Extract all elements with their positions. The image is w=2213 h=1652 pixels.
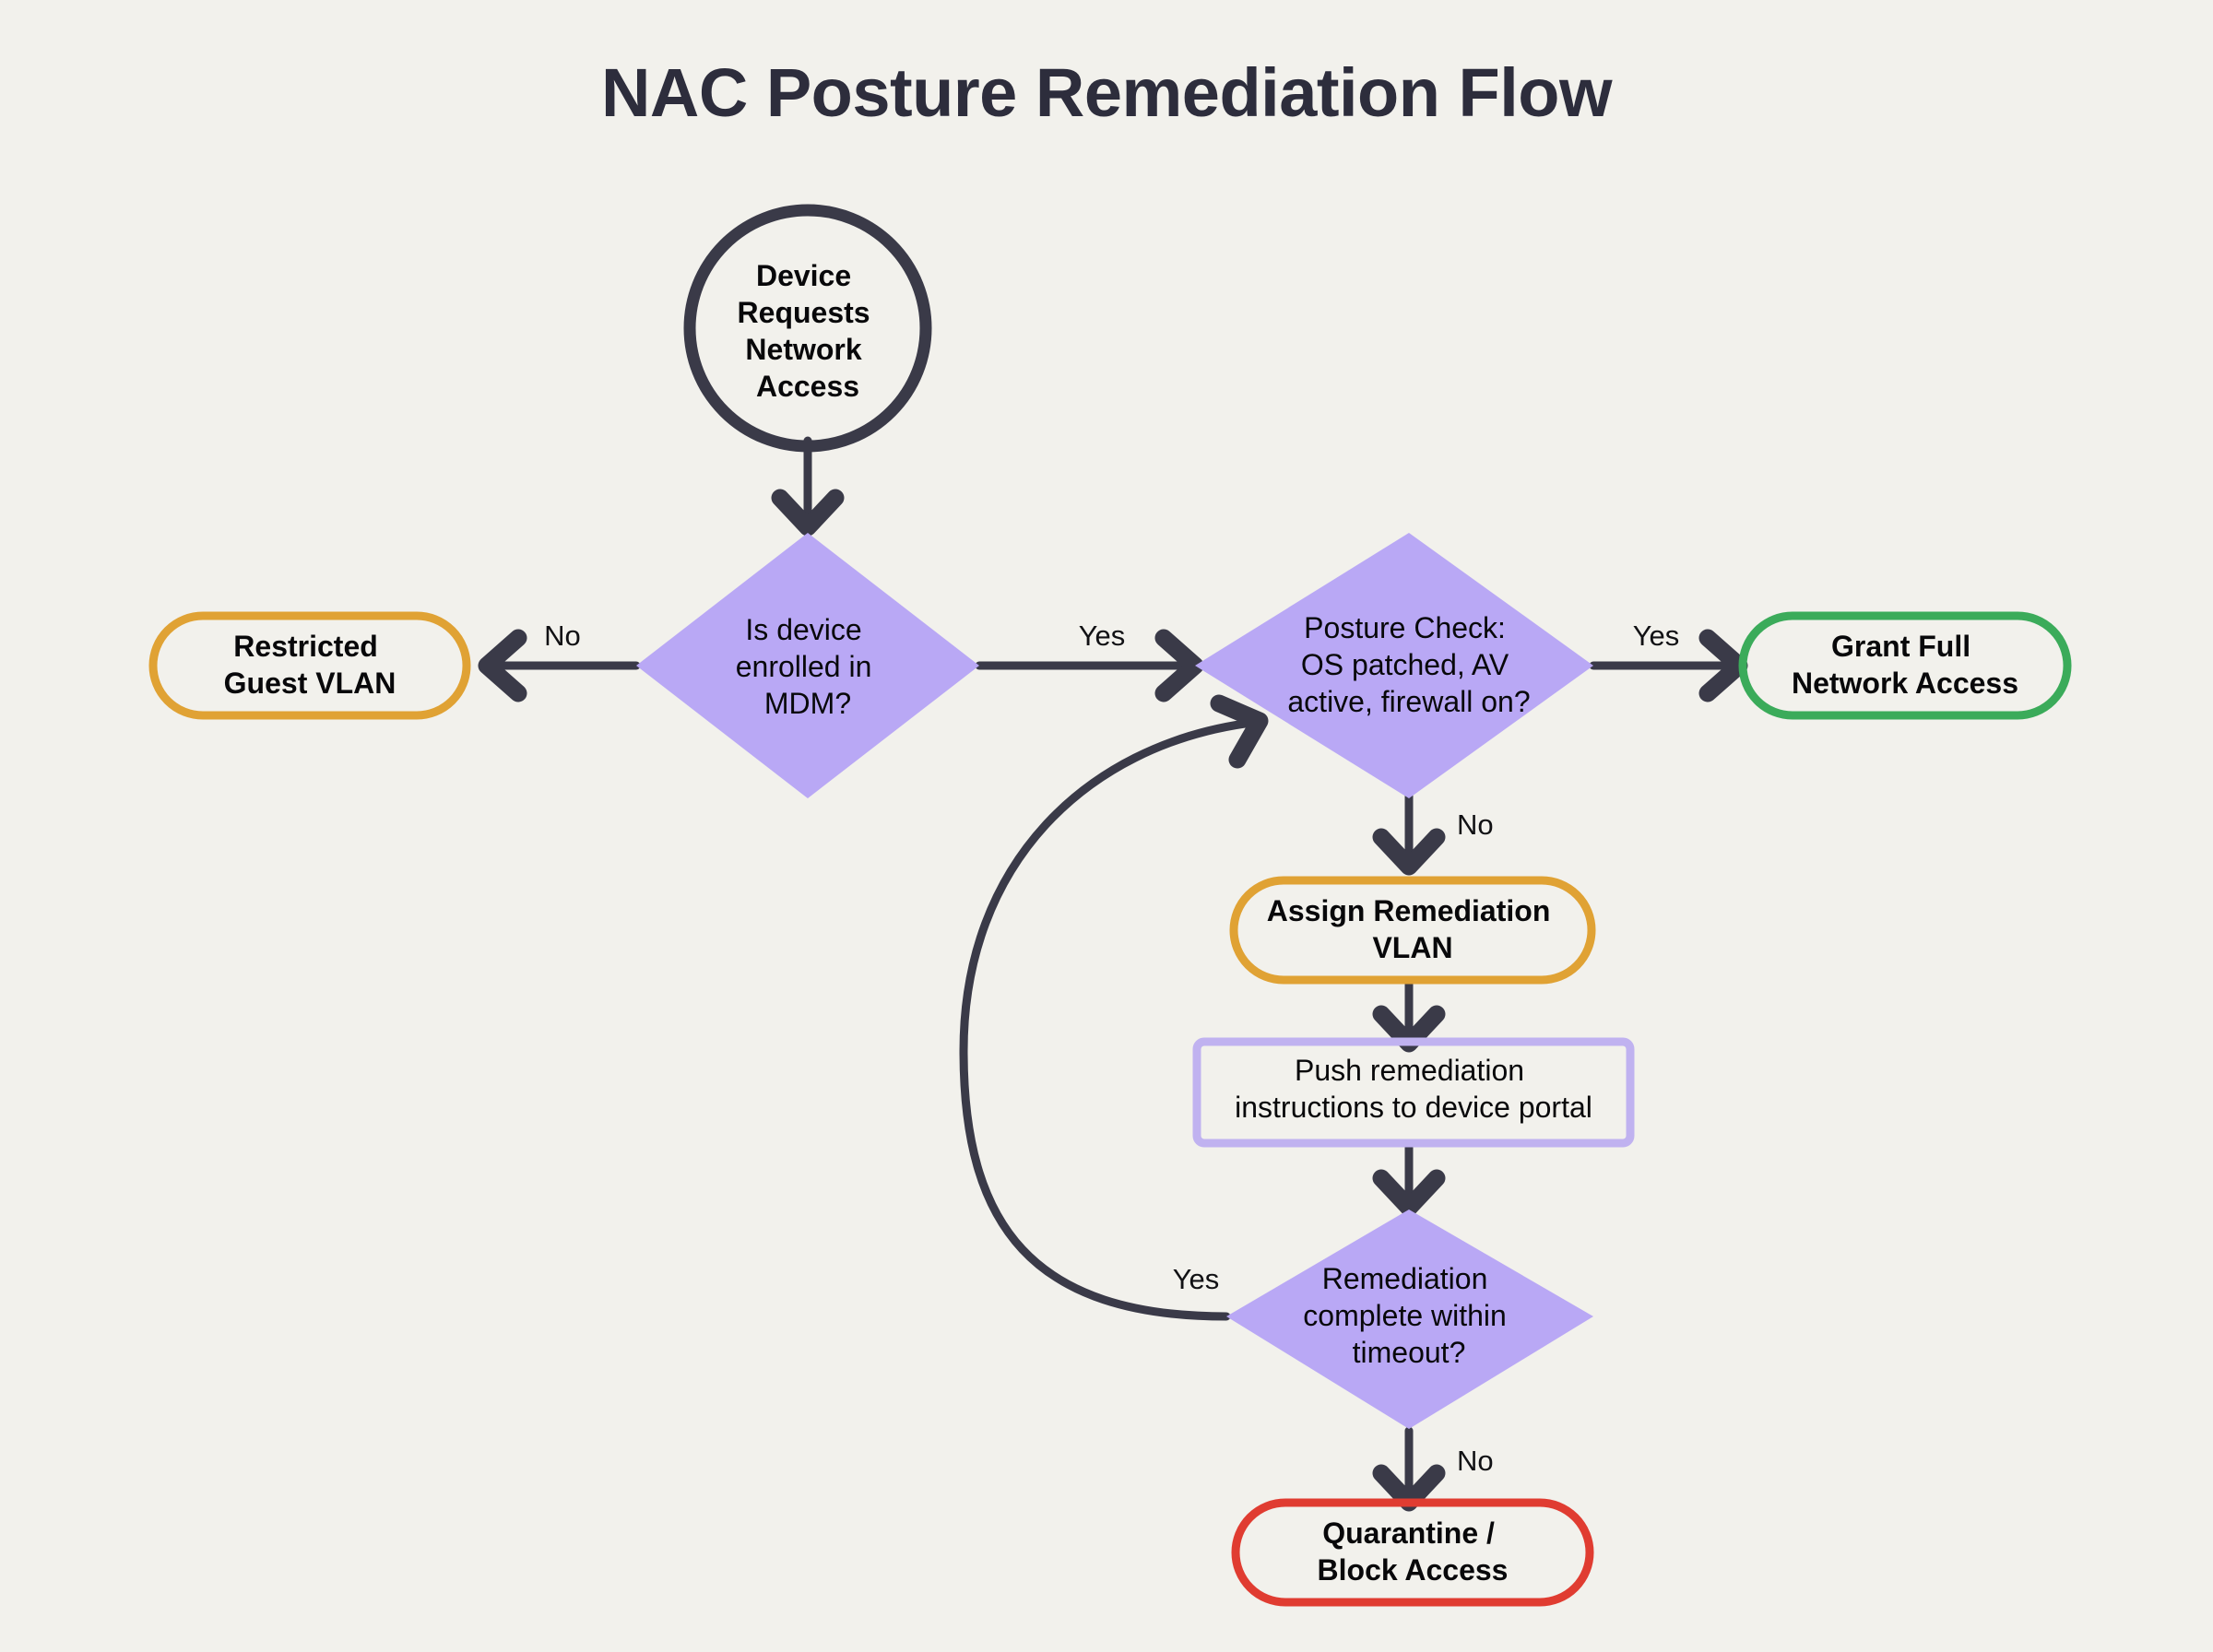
node-start-line-4: Access: [756, 370, 859, 403]
node-quarantine-line-1: Quarantine /: [1322, 1516, 1495, 1550]
edge-mdm-yes: Yes: [979, 619, 1195, 693]
edge-label-timeout-no: No: [1457, 1445, 1494, 1477]
node-guest-vlan-line-2: Guest VLAN: [224, 667, 396, 700]
flowchart-canvas: NAC Posture Remediation Flow No Yes Yes: [0, 0, 2213, 1652]
node-posture-check-line-3: active, firewall on?: [1287, 685, 1530, 718]
node-grant-access-line-1: Grant Full: [1831, 630, 1970, 663]
svg-text:Posture Check: OS patc: Posture Check: OS patched, AV active, fi…: [1287, 611, 1530, 718]
node-push-instructions-line-2: instructions to device portal: [1235, 1091, 1592, 1124]
node-push-instructions[interactable]: Push remediation instructions to device …: [1197, 1042, 1630, 1143]
node-remediation-vlan-line-1: Assign Remediation: [1267, 894, 1551, 927]
node-timeout-check-line-3: timeout?: [1353, 1336, 1466, 1369]
svg-text:Device Requests: Device Requests Network Access: [738, 259, 879, 403]
node-mdm-check-line-2: enrolled in: [736, 650, 872, 683]
edge-vlan-to-push: [1381, 982, 1437, 1044]
edge-start-to-mdm: [780, 441, 835, 527]
svg-text:Grant Full Network Acc: Grant Full Network Access: [1792, 630, 2018, 700]
edge-label-mdm-no: No: [544, 619, 581, 652]
node-guest-vlan[interactable]: Restricted Guest VLAN: [153, 616, 467, 715]
edge-timeout-no: No: [1381, 1431, 1494, 1503]
node-posture-check[interactable]: Posture Check: OS patched, AV active, fi…: [1195, 533, 1593, 798]
edge-posture-no: No: [1381, 795, 1494, 867]
node-remediation-vlan[interactable]: Assign Remediation VLAN: [1234, 880, 1592, 980]
edge-push-to-timeout: [1381, 1146, 1437, 1208]
svg-text:Assign Remediation VLA: Assign Remediation VLAN: [1267, 894, 1559, 964]
edge-mdm-no: No: [487, 619, 636, 693]
node-posture-check-line-1: Posture Check:: [1304, 611, 1506, 644]
node-grant-access-line-2: Network Access: [1792, 667, 2018, 700]
node-grant-access[interactable]: Grant Full Network Access: [1743, 616, 2067, 715]
node-push-instructions-line-1: Push remediation: [1295, 1054, 1524, 1087]
edge-posture-yes: Yes: [1593, 619, 1739, 693]
svg-text:Push remediation instr: Push remediation instructions to device …: [1235, 1054, 1592, 1124]
flowchart-diagram: No Yes Yes No: [0, 0, 2213, 1652]
edge-label-mdm-yes: Yes: [1079, 619, 1126, 652]
node-timeout-check[interactable]: Remediation complete within timeout?: [1226, 1209, 1593, 1429]
node-start-line-1: Device: [756, 259, 851, 292]
node-guest-vlan-line-1: Restricted: [233, 630, 378, 663]
edge-timeout-yes: Yes: [964, 703, 1260, 1316]
edge-label-posture-no: No: [1457, 808, 1494, 841]
node-mdm-check-line-1: Is device: [745, 613, 861, 646]
svg-text:Quarantine / Block Acc: Quarantine / Block Access: [1318, 1516, 1509, 1587]
node-remediation-vlan-line-2: VLAN: [1372, 931, 1452, 964]
edge-label-timeout-yes: Yes: [1173, 1263, 1220, 1295]
node-timeout-check-line-1: Remediation: [1322, 1262, 1488, 1295]
edge-label-posture-yes: Yes: [1633, 619, 1680, 652]
node-mdm-check-line-3: MDM?: [764, 687, 851, 720]
node-start-line-2: Requests: [738, 296, 870, 329]
svg-text:Restricted Guest VLAN: Restricted Guest VLAN: [224, 630, 396, 700]
node-timeout-check-line-2: complete within: [1303, 1299, 1507, 1332]
node-start-line-3: Network: [745, 333, 861, 366]
node-quarantine[interactable]: Quarantine / Block Access: [1236, 1503, 1590, 1602]
node-mdm-check[interactable]: Is device enrolled in MDM?: [636, 533, 979, 798]
node-quarantine-line-2: Block Access: [1318, 1553, 1509, 1587]
node-start[interactable]: Device Requests Network Access: [690, 210, 926, 446]
node-posture-check-line-2: OS patched, AV: [1301, 648, 1509, 681]
